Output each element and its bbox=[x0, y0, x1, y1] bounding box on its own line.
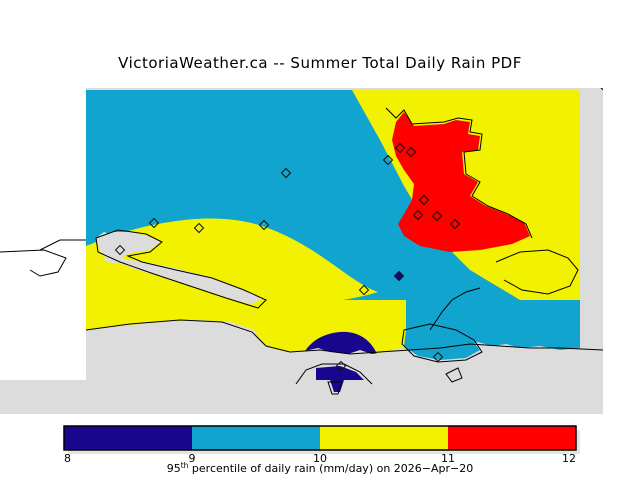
colorbar: 89101112 95th percentile of daily rain (… bbox=[0, 414, 640, 480]
colorbar-panel: 89101112 95th percentile of daily rain (… bbox=[0, 414, 640, 480]
top-blank bbox=[0, 0, 640, 88]
colorbar-segments bbox=[64, 426, 576, 450]
nw-blank bbox=[0, 88, 86, 250]
colorbar-segment-yellow bbox=[320, 426, 448, 450]
caption-rest: percentile of daily rain (mm/day) on 202… bbox=[188, 462, 473, 475]
colorbar-tick-8: 8 bbox=[64, 452, 71, 465]
colorbar-caption: 95th percentile of daily rain (mm/day) o… bbox=[167, 461, 474, 475]
colorbar-segment-red bbox=[448, 426, 576, 450]
colorbar-tick-12: 12 bbox=[562, 452, 576, 465]
caption-prefix: 95 bbox=[167, 462, 181, 475]
colorbar-segment-cyan bbox=[192, 426, 320, 450]
page-title: VictoriaWeather.ca -- Summer Total Daily… bbox=[0, 54, 640, 72]
colorbar-segment-navy bbox=[64, 426, 192, 450]
weather-map-page: VictoriaWeather.ca -- Summer Total Daily… bbox=[0, 0, 640, 480]
